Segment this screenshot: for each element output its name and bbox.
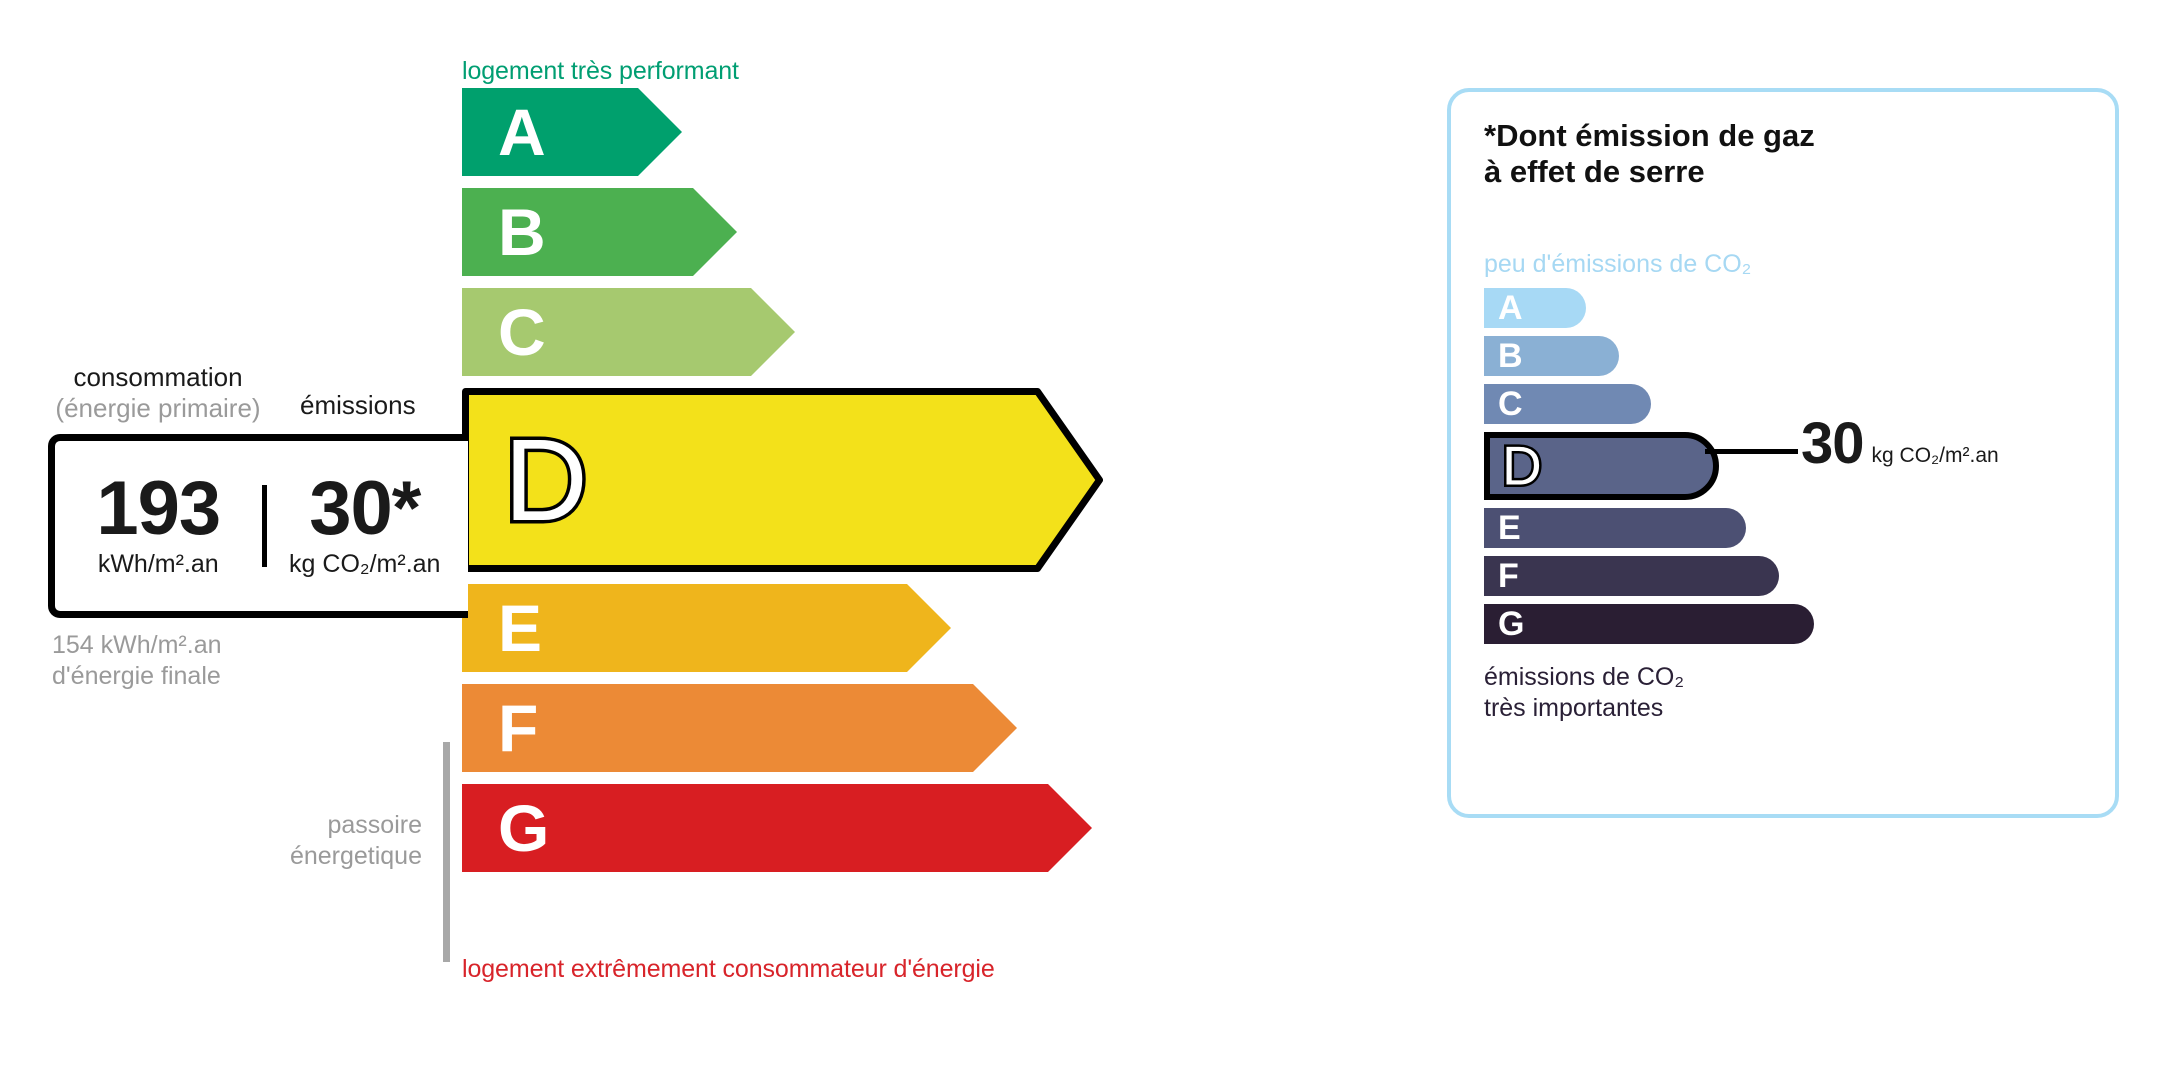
co2-class-letter-c: C [1498, 387, 1523, 421]
co2-panel: *Dont émission de gaz à effet de serre p… [1447, 88, 2119, 818]
co2-class-letter-e: E [1498, 511, 1521, 545]
energy-top-caption: logement très performant [462, 57, 739, 86]
energy-arrow-f [462, 684, 1017, 772]
energy-class-row-c: C [462, 288, 795, 376]
energy-class-row-e: E [462, 584, 951, 672]
final-energy-note: 154 kWh/m².an d'énergie finale [52, 630, 222, 691]
co2-bottom-caption-line1: émissions de CO₂ [1484, 662, 1684, 693]
co2-class-row-f: F [1484, 556, 1779, 596]
energy-class-row-b: B [462, 188, 737, 276]
energy-class-letter-g: G [498, 795, 549, 861]
consumption-header: consommation (énergie primaire) [52, 362, 264, 423]
energy-arrow-g [462, 784, 1092, 872]
consumption-unit: kWh/m².an [55, 550, 262, 579]
co2-bottom-caption-line2: très importantes [1484, 693, 1684, 724]
co2-class-row-b: B [1484, 336, 1619, 376]
co2-value-callout: 30 kg CO₂/m².an [1801, 415, 1999, 473]
dpe-label: logement très performant ABCDEFG consomm… [0, 0, 2169, 1079]
emissions-value: 30* [262, 473, 469, 545]
value-box: 193 kWh/m².an 30* kg CO₂/m².an [48, 434, 468, 618]
energy-class-letter-e: E [498, 595, 542, 661]
energy-class-letter-f: F [498, 695, 538, 761]
consumption-header-line1: consommation [52, 362, 264, 393]
co2-class-letter-f: F [1498, 559, 1519, 593]
co2-class-letter-d: D [1502, 439, 1542, 494]
co2-class-row-d: D [1484, 432, 1719, 500]
energy-class-letter-b: B [498, 199, 546, 265]
energy-class-letter-c: C [498, 299, 546, 365]
passoire-label-line1: passoire [200, 810, 422, 841]
co2-class-letter-a: A [1498, 291, 1523, 325]
co2-class-letter-g: G [1498, 607, 1524, 641]
co2-top-caption: peu d'émissions de CO₂ [1484, 250, 1751, 279]
energy-class-row-g: G [462, 784, 1092, 872]
co2-title-line1: *Dont émission de gaz [1484, 118, 1815, 154]
co2-leader-line [1705, 449, 1798, 454]
co2-class-row-e: E [1484, 508, 1746, 548]
energy-class-row-a: A [462, 88, 682, 176]
energy-performance-panel: logement très performant ABCDEFG consomm… [0, 0, 1400, 1079]
energy-class-letter-d: D [504, 422, 588, 538]
energy-class-letter-a: A [498, 99, 546, 165]
co2-title-line2: à effet de serre [1484, 154, 1815, 190]
passoire-label-line2: énergetique [200, 841, 422, 872]
passoire-label: passoire énergetique [200, 810, 422, 871]
consumption-value: 193 [55, 473, 262, 545]
co2-bottom-caption: émissions de CO₂ très importantes [1484, 662, 1684, 723]
emissions-header: émissions [300, 390, 416, 421]
co2-value: 30 [1801, 415, 1864, 473]
passoire-bracket [443, 742, 450, 962]
energy-arrow-a [462, 88, 682, 176]
co2-panel-title: *Dont émission de gaz à effet de serre [1484, 118, 1815, 190]
co2-class-letter-b: B [1498, 339, 1523, 373]
emissions-unit: kg CO₂/m².an [262, 550, 469, 579]
co2-class-row-c: C [1484, 384, 1651, 424]
emissions-value-cell: 30* kg CO₂/m².an [262, 473, 469, 578]
final-energy-value: 154 kWh/m².an [52, 630, 222, 661]
co2-unit: kg CO₂/m².an [1872, 444, 1999, 468]
final-energy-label: d'énergie finale [52, 661, 222, 692]
co2-class-row-a: A [1484, 288, 1586, 328]
energy-class-row-f: F [462, 684, 1017, 772]
consumption-value-cell: 193 kWh/m².an [55, 473, 262, 578]
energy-class-row-d: D [462, 388, 1103, 572]
consumption-header-line2: (énergie primaire) [52, 393, 264, 424]
energy-bottom-caption: logement extrêmement consommateur d'éner… [462, 955, 995, 984]
co2-class-row-g: G [1484, 604, 1814, 644]
